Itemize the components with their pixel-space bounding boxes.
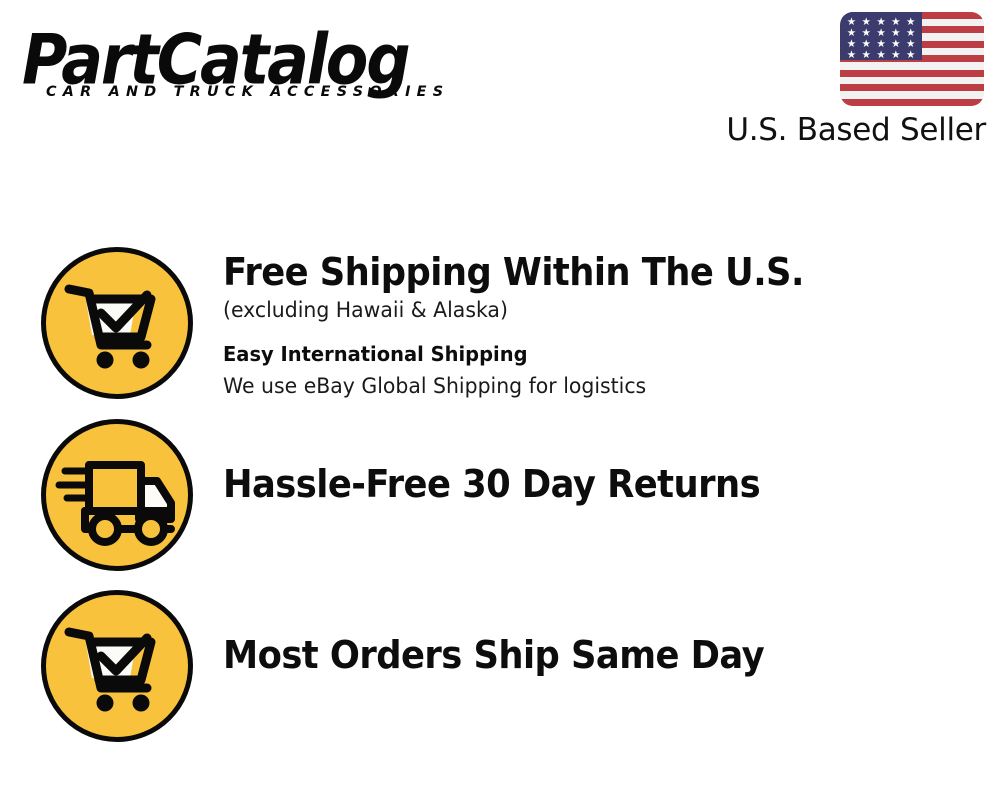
us-based-seller-label: U.S. Based Seller	[726, 111, 986, 149]
flag-star: ★	[862, 17, 871, 27]
shopping-cart-check-icon	[41, 590, 193, 742]
flag-stripe	[840, 84, 984, 91]
brand-tagline: CAR AND TRUCK ACCESSORIES	[46, 84, 449, 100]
flag-canton: ★ ★ ★ ★ ★ ★ ★ ★ ★ ★ ★ ★ ★ ★	[840, 12, 922, 60]
delivery-truck-icon	[41, 419, 193, 571]
shopping-cart-check-icon	[41, 247, 193, 399]
flag-star: ★	[862, 28, 871, 38]
feature-text-block: Free Shipping Within The U.S. (excluding…	[223, 247, 1000, 402]
cart-check-glyph	[41, 590, 193, 742]
feature-row: Most Orders Ship Same Day	[0, 590, 1000, 762]
flag-stripe	[840, 63, 984, 70]
flag-star: ★	[862, 39, 871, 49]
flag-star: ★	[876, 17, 885, 27]
flag-stripe	[840, 70, 984, 77]
flag-star: ★	[906, 28, 915, 38]
brand-logo[interactable]: PartCatalog	[22, 24, 492, 119]
flag-star: ★	[891, 39, 900, 49]
feature-title: Most Orders Ship Same Day	[223, 632, 946, 678]
flag-star: ★	[847, 50, 856, 60]
us-flag-icon: ★ ★ ★ ★ ★ ★ ★ ★ ★ ★ ★ ★ ★ ★	[840, 12, 984, 106]
cart-check-glyph	[41, 247, 193, 399]
feature-subtitle: (excluding Hawaii & Alaska)	[223, 295, 961, 327]
flag-star: ★	[891, 17, 900, 27]
truck-glyph	[41, 419, 193, 571]
flag-star: ★	[906, 39, 915, 49]
flag-star: ★	[876, 28, 885, 38]
feature-title: Hassle-Free 30 Day Returns	[223, 461, 946, 507]
flag-star: ★	[876, 39, 885, 49]
flag-star: ★	[891, 28, 900, 38]
flag-star: ★	[906, 50, 915, 60]
us-based-seller-badge: ★ ★ ★ ★ ★ ★ ★ ★ ★ ★ ★ ★ ★ ★	[840, 12, 984, 106]
page-header: PartCatalog CAR AND TRUCK ACCESSORIES ★ …	[0, 0, 1000, 175]
flag-star: ★	[847, 28, 856, 38]
flag-star: ★	[847, 17, 856, 27]
feature-text-block: Most Orders Ship Same Day	[223, 590, 1000, 678]
feature-subtitle-note: We use eBay Global Shipping for logistic…	[223, 371, 961, 402]
feature-row: Hassle-Free 30 Day Returns	[0, 419, 1000, 589]
flag-star: ★	[906, 17, 915, 27]
flag-stripe	[840, 77, 984, 84]
flag-star: ★	[862, 50, 871, 60]
feature-text-block: Hassle-Free 30 Day Returns	[223, 419, 1000, 507]
flag-star: ★	[891, 50, 900, 60]
feature-list: Free Shipping Within The U.S. (excluding…	[0, 175, 1000, 800]
feature-subtitle-strong: Easy International Shipping	[223, 338, 961, 371]
feature-row: Free Shipping Within The U.S. (excluding…	[0, 247, 1000, 419]
flag-stripe	[840, 99, 984, 106]
flag-star: ★	[847, 39, 856, 49]
flag-star: ★	[876, 50, 885, 60]
feature-title: Free Shipping Within The U.S.	[223, 249, 946, 295]
flag-stripe	[840, 92, 984, 99]
